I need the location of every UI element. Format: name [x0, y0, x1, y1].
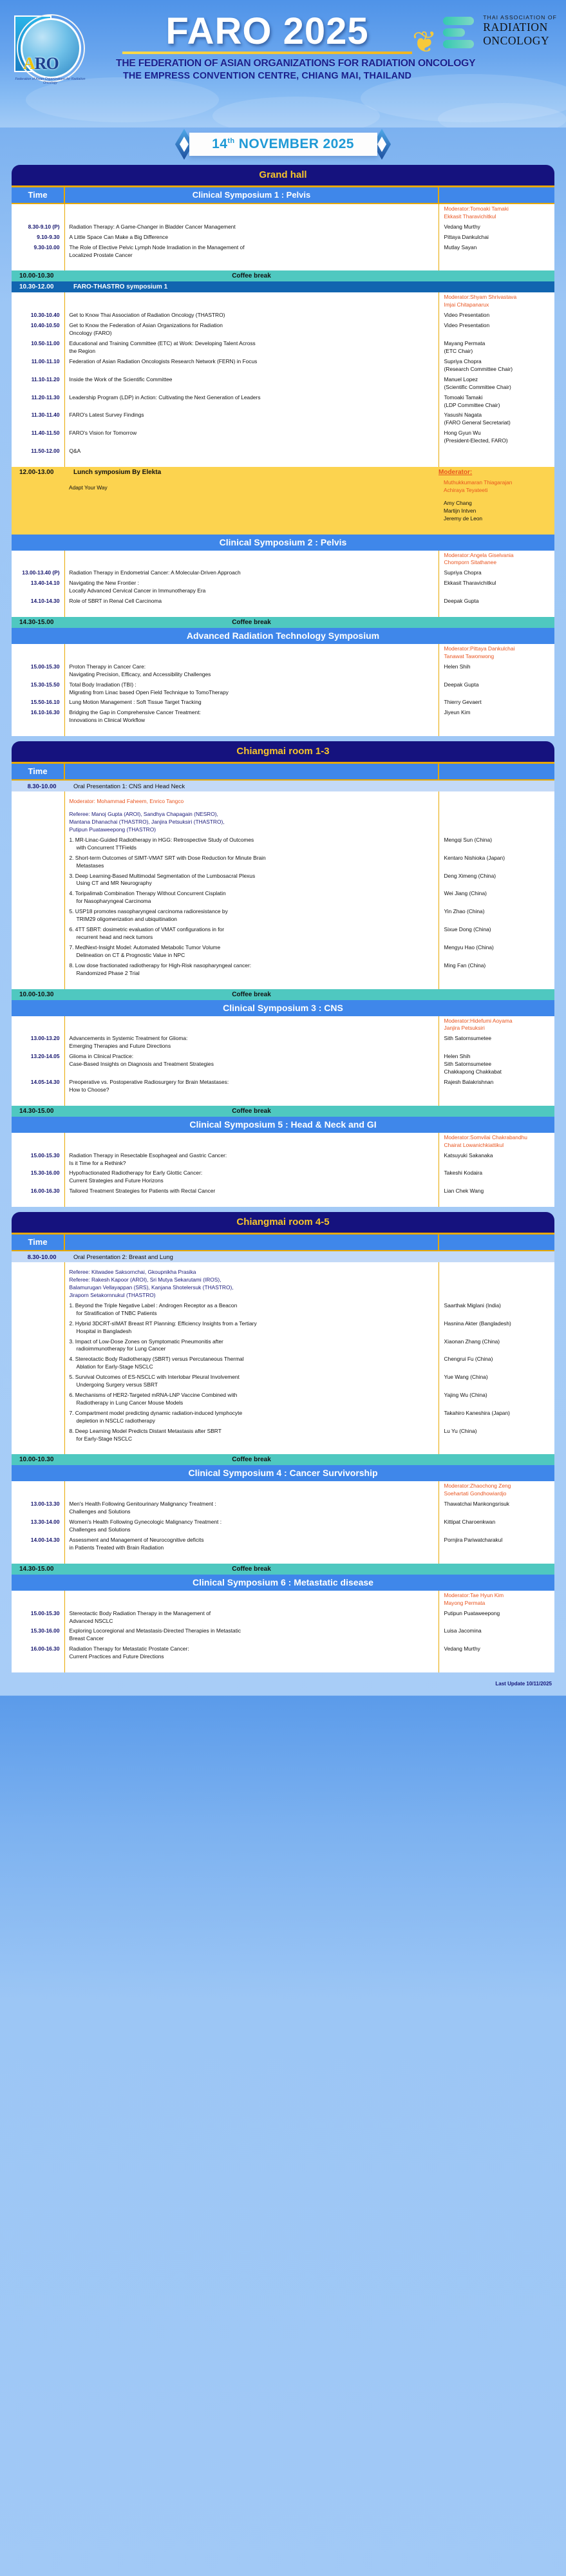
moderator-name: Zhaochong Zeng — [470, 1482, 511, 1489]
break-time: 14.30-15.00 — [12, 1106, 64, 1117]
session-topic: Bridging the Gap in Comprehensive Cancer… — [64, 708, 439, 726]
spacer-topic — [64, 1662, 439, 1672]
moderator-name: Somvilai Chakrabandhu — [470, 1134, 527, 1141]
symposium-title-header: Clinical Symposium 1 : Pelvis — [64, 187, 439, 204]
oral-item-time — [12, 1354, 64, 1372]
time-cell — [12, 204, 64, 222]
thai-flame-icon: ❦ — [412, 27, 438, 66]
session-topic: Men's Health Following Genitourinary Mal… — [64, 1499, 439, 1517]
schedule-page: ARO Federation of Asian Organizations fo… — [0, 0, 566, 1696]
oral-item-text-cont: for Early-Stage NSCLC — [70, 1435, 435, 1443]
session-time: 14.00-14.30 — [12, 1535, 64, 1553]
oral-item-speaker: Hasnina Akter (Bangladesh) — [439, 1319, 554, 1337]
spacer-time — [12, 607, 64, 617]
oral-item-row[interactable]: 8. Low dose fractionated radiotherapy fo… — [12, 961, 554, 979]
speaker-cell: Moderator:Shyam ShrivastavaImjai Chitapa… — [439, 292, 554, 310]
session-topic: Get to Know Thai Association of Radiatio… — [64, 310, 439, 321]
session-speaker: Lian Chek Wang — [439, 1186, 554, 1197]
break-label: Coffee break — [64, 617, 439, 628]
oral-item-row[interactable]: 7. Compartment model predicting dynamic … — [12, 1408, 554, 1426]
session-row[interactable]: 13.40-14.10Navigating the New Frontier :… — [12, 578, 554, 596]
row-spacer — [12, 979, 554, 989]
oral-item-text: 2. Hybrid 3DCRT-sIMAT Breast RT Planning… — [70, 1320, 435, 1328]
spacer-topic — [64, 607, 439, 617]
break-time: 10.00-10.30 — [12, 989, 64, 1000]
oral-item-row[interactable]: 5. Survival Outcomes of ES-NSCLC with In… — [12, 1372, 554, 1390]
session-row[interactable]: 13.20-14.05Glioma in Clinical Practice:C… — [12, 1052, 554, 1077]
moderator-row: Moderator:Tomoaki TamakiEkkasit Tharavic… — [12, 204, 554, 222]
oral-item-speaker: Mengqi Sun (China) — [439, 835, 554, 853]
session-row[interactable]: 15.00-15.30Stereotactic Body Radiation T… — [12, 1609, 554, 1627]
schedule-table: Time 8.30-10.00Oral Presentation 2: Brea… — [12, 1235, 554, 1672]
session-time: 13.20-14.05 — [12, 1052, 64, 1077]
session-row[interactable]: 9.30-10.00The Role of Elective Pelvic Ly… — [12, 243, 554, 261]
symposium-title: Advanced Radiation Technology Symposium — [12, 628, 554, 644]
moderator-row: Moderator:Tae Hyun KimMayong Permata — [12, 1591, 554, 1609]
session-row[interactable]: 8.30-9.10 (P)Radiation Therapy: A Game-C… — [12, 222, 554, 232]
speaker-cell: Moderator:Hidefumi AoyamaJanjira Petsuks… — [439, 1016, 554, 1034]
oral-item-speaker: Chengrui Fu (China) — [439, 1354, 554, 1372]
moderator-label: Moderator: — [444, 1134, 471, 1141]
bar-3 — [443, 40, 474, 48]
break-label: Coffee break — [64, 270, 439, 281]
oral-item-speaker: Yue Wang (China) — [439, 1372, 554, 1390]
time-column-header: Time — [12, 1235, 64, 1251]
spacer-speaker — [439, 457, 554, 467]
moderator-label: Moderator: — [444, 294, 471, 300]
session-speaker: Supriya Chopra — [439, 568, 554, 578]
session-topic: Federation of Asian Radiation Oncologist… — [64, 357, 439, 375]
logo-aro-text: ARO — [23, 54, 59, 73]
session-row[interactable]: 16.00-16.30Radiation Therapy for Metasta… — [12, 1644, 554, 1662]
session-speaker: Hong Gyun Wu(President-Elected, FARO) — [439, 428, 554, 446]
break-label: Coffee break — [64, 1564, 439, 1575]
spacer-topic — [64, 1095, 439, 1106]
spacer-time — [12, 726, 64, 736]
oral-item-speaker: Ming Fan (China) — [439, 961, 554, 979]
oral-item-text: 2. Short-term Outcomes of SIMT-VMAT SRT … — [70, 855, 435, 862]
session-speaker: Deepak Gupta — [439, 680, 554, 698]
oral-item-text: 5. USP18 promotes nasopharyngeal carcino… — [70, 908, 435, 916]
break-spacer — [439, 989, 554, 1000]
lunch-pad-b — [64, 524, 439, 535]
oral-item-text: 4. Toripalimab Combination Therapy Witho… — [70, 890, 435, 898]
oral-item-row[interactable]: 8. Deep Learning Model Predicts Distant … — [12, 1426, 554, 1444]
session-time: 14.10-14.30 — [12, 596, 64, 607]
session-speaker: Takeshi Kodaira — [439, 1168, 554, 1186]
session-speaker: Vedang Murthy — [439, 1644, 554, 1662]
oral-item-text: 7. Compartment model predicting dynamic … — [70, 1410, 435, 1417]
session-row[interactable]: 15.00-15.30Radiation Therapy in Resectab… — [12, 1151, 554, 1169]
oral-meta-row: Moderator: Mohammad Faheem, Enrico Tangc… — [12, 791, 554, 835]
time-cell — [12, 644, 64, 662]
spacer-speaker — [439, 1553, 554, 1564]
lunch-pad-row — [12, 524, 554, 535]
oral-item-topic: 2. Short-term Outcomes of SIMT-VMAT SRT … — [64, 853, 439, 871]
break-row: 10.00-10.30Coffee break — [12, 1454, 554, 1465]
session-speaker: Ekkasit Tharavichitkul — [439, 578, 554, 596]
moderator-name: Chairat Lowanichkiattikul — [444, 1142, 504, 1148]
date-month-year: NOVEMBER 2025 — [239, 137, 354, 151]
session-time: 15.50-16.10 — [12, 697, 64, 708]
break-label: Coffee break — [64, 989, 439, 1000]
break-time: 10.00-10.30 — [12, 1454, 64, 1465]
session-speaker: Luisa Jacomina — [439, 1626, 554, 1644]
session-topic: Get to Know the Federation of Asian Orga… — [64, 321, 439, 339]
symposium-bar: Clinical Symposium 3 : CNS — [12, 1000, 554, 1016]
session-speaker: Katsuyuki Sakanaka — [439, 1151, 554, 1169]
oral-item-row[interactable]: 1. MR-Linac-Guided Radiotherapy in HGG: … — [12, 835, 554, 853]
spacer-time — [12, 1095, 64, 1106]
oral-item-time — [12, 1301, 64, 1319]
moderator-row: Moderator:Shyam ShrivastavaImjai Chitapa… — [12, 292, 554, 310]
moderator-name: Achiraya Teyateeti — [444, 487, 487, 493]
oral-item-text: 6. Mechanisms of HER2-Targeted mRNA-LNP … — [70, 1392, 435, 1399]
oral-item-time — [12, 961, 64, 979]
session-speaker: Helen Shih — [439, 662, 554, 680]
session-time: 15.30-16.00 — [12, 1626, 64, 1644]
session-time: 11.40-11.50 — [12, 428, 64, 446]
spacer-topic — [64, 979, 439, 989]
session-row[interactable]: 11.40-11.50FARO's Vision for TomorrowHon… — [12, 428, 554, 446]
schedule-table: Time 8.30-10.00Oral Presentation 1: CNS … — [12, 764, 554, 1207]
session-topic: Assessment and Management of Neurocognit… — [64, 1535, 439, 1553]
time-cell — [12, 1591, 64, 1609]
moderator-name: Pittaya Dankulchai — [470, 645, 514, 652]
symposium-title-header — [64, 764, 439, 780]
session-time: 9.10-9.30 — [12, 232, 64, 243]
hall-section: Chiangmai room 4-5Time 8.30-10.00Oral Pr… — [12, 1212, 554, 1672]
symposium-title: Clinical Symposium 2 : Pelvis — [12, 535, 554, 551]
session-row[interactable]: 15.50-16.10Lung Motion Management : Soft… — [12, 697, 554, 708]
session-row[interactable]: 15.30-16.00Hypofractionated Radiotherapy… — [12, 1168, 554, 1186]
referee-line: Jiraporn Setakornnukul (THASTRO) — [70, 1292, 156, 1298]
oral-item-row[interactable]: 4. Toripalimab Combination Therapy Witho… — [12, 889, 554, 907]
lunch-label: Lunch symposium By Elekta — [64, 467, 439, 478]
moderator-label: Moderator: — [444, 1592, 471, 1598]
session-row[interactable]: 15.00-15.30Proton Therapy in Cancer Care… — [12, 662, 554, 680]
oral-item-text-cont: Using CT and MR Neurography — [70, 880, 435, 887]
time-cell — [12, 1481, 64, 1499]
oral-item-row[interactable]: 6. 4TT SBRT: dosimetric evaluation of VM… — [12, 925, 554, 943]
session-speaker: Rajesh Balakrishnan — [439, 1077, 554, 1095]
time-cell — [12, 1016, 64, 1034]
event-banner: ARO Federation of Asian Organizations fo… — [0, 0, 566, 128]
spacer-speaker — [439, 726, 554, 736]
topic-cell — [64, 644, 439, 662]
oral-item-time — [12, 907, 64, 925]
symposium-bar: Advanced Radiation Technology Symposium — [12, 628, 554, 644]
row-spacer — [12, 1553, 554, 1564]
speaker-column-header — [439, 187, 554, 204]
session-row[interactable]: 13.30-14.00Women's Health Following Gyne… — [12, 1517, 554, 1535]
moderator-name: Muthukkumaran Thiagarajan — [444, 479, 512, 486]
spacer-speaker — [439, 1095, 554, 1106]
oral-item-topic: 6. Mechanisms of HER2-Targeted mRNA-LNP … — [64, 1390, 439, 1408]
hall-section: Chiangmai room 1-3Time 8.30-10.00Oral Pr… — [12, 741, 554, 1207]
speaker-column-header — [439, 764, 554, 780]
session-time: 10.40-10.50 — [12, 321, 64, 339]
session-row[interactable]: 14.00-14.30Assessment and Management of … — [12, 1535, 554, 1553]
session-row[interactable]: 15.30-15.50Total Body Irradiation (TBI) … — [12, 680, 554, 698]
session-time: 13.40-14.10 — [12, 578, 64, 596]
session-topic: Hypofractionated Radiotherapy for Early … — [64, 1168, 439, 1186]
moderator-name: Janjira Petsuksiri — [444, 1025, 485, 1031]
oral-meta-time — [12, 1262, 64, 1301]
speaker-cell: Moderator:Somvilai ChakrabandhuChairat L… — [439, 1133, 554, 1151]
oral-item-row[interactable]: 5. USP18 promotes nasopharyngeal carcino… — [12, 907, 554, 925]
oral-item-speaker: Yajing Wu (China) — [439, 1390, 554, 1408]
break-row: 14.30-15.00Coffee break — [12, 617, 554, 628]
speaker-cell: Moderator:Angela GiselvaniaChomporn Sita… — [439, 551, 554, 569]
row-spacer — [12, 1095, 554, 1106]
oral-item-topic: 7. MedNext-Insight Model: Automated Meta… — [64, 943, 439, 961]
session-time: 15.00-15.30 — [12, 662, 64, 680]
session-row[interactable]: 10.40-10.50Get to Know the Federation of… — [12, 321, 554, 339]
session-row[interactable]: 14.10-14.30Role of SBRT in Renal Cell Ca… — [12, 596, 554, 607]
oral-item-topic: 6. 4TT SBRT: dosimetric evaluation of VM… — [64, 925, 439, 943]
session-topic: Preoperative vs. Postoperative Radiosurg… — [64, 1077, 439, 1095]
session-row[interactable]: 13.00-13.20Advancements in Systemic Trea… — [12, 1034, 554, 1052]
organization-line: THE FEDERATION OF ASIAN ORGANIZATIONS FO… — [116, 58, 419, 70]
session-speaker: Jiyeun Kim — [439, 708, 554, 726]
row-spacer — [12, 1444, 554, 1455]
time-column-header: Time — [12, 187, 64, 204]
symposium-title: Clinical Symposium 3 : CNS — [12, 1000, 554, 1016]
event-date-ribbon: 14th NOVEMBER 2025 — [189, 133, 377, 156]
oral-item-text: 3. Impact of Low-Dose Zones on Symptomat… — [70, 1338, 435, 1346]
event-title: FARO 2025 — [116, 13, 419, 50]
session-speaker: Sith Satornsumetee — [439, 1034, 554, 1052]
speaker-column-header — [439, 1235, 554, 1251]
break-time: 14.30-15.00 — [12, 1564, 64, 1575]
session-row[interactable]: 16.10-16.30Bridging the Gap in Comprehen… — [12, 708, 554, 726]
oral-item-row[interactable]: 7. MedNext-Insight Model: Automated Meta… — [12, 943, 554, 961]
break-time: 10.00-10.30 — [12, 270, 64, 281]
row-spacer — [12, 1197, 554, 1207]
oral-item-time — [12, 925, 64, 943]
bar-1 — [443, 17, 474, 25]
oral-item-time — [12, 1372, 64, 1390]
spacer-topic — [64, 726, 439, 736]
session-time: 9.30-10.00 — [12, 243, 64, 261]
oral-item-text-cont: Delineation on CT & Prognostic Value in … — [70, 952, 435, 960]
oral-item-row[interactable]: 2. Hybrid 3DCRT-sIMAT Breast RT Planning… — [12, 1319, 554, 1337]
topic-cell — [64, 1481, 439, 1499]
oral-item-text: 8. Low dose fractionated radiotherapy fo… — [70, 962, 435, 970]
session-topic: Total Body Irradiation (TBI) :Migrating … — [64, 680, 439, 698]
lunch-pad-c — [439, 524, 554, 535]
oral-item-topic: 5. USP18 promotes nasopharyngeal carcino… — [64, 907, 439, 925]
logo-caption: Federation of Asian Organizations for Ra… — [13, 77, 88, 85]
oral-item-text-cont: with Concurrent TTFields — [70, 844, 435, 852]
moderator-row: Moderator:Zhaochong ZengSoehartati Gondh… — [12, 1481, 554, 1499]
oral-item-topic: 4. Toripalimab Combination Therapy Witho… — [64, 889, 439, 907]
oral-item-text-cont: Undergoing Surgery versus SBRT — [70, 1381, 435, 1389]
oral-item-row[interactable]: 1. Beyond the Triple Negative Label : An… — [12, 1301, 554, 1319]
speaker-cell: Moderator:Zhaochong ZengSoehartati Gondh… — [439, 1481, 554, 1499]
symposium-title: Clinical Symposium 6 : Metastatic diseas… — [12, 1575, 554, 1591]
speaker-cell: Moderator:Pittaya DankulchaiTanawat Tawo… — [439, 644, 554, 662]
session-bar-spacer — [439, 281, 554, 292]
lunch-pad-a — [12, 524, 64, 535]
session-speaker: Video Presentation — [439, 310, 554, 321]
thai-assoc-line3: ONCOLOGY — [483, 34, 557, 48]
oral-item-text: 7. MedNext-Insight Model: Automated Meta… — [70, 944, 435, 952]
thai-association-logo: THAI ASSOCIATION OF RADIATION ONCOLOGY — [483, 14, 557, 48]
hall-title: Grand hall — [12, 165, 554, 187]
date-day: 14 — [212, 137, 227, 151]
oral-item-topic: 1. Beyond the Triple Negative Label : An… — [64, 1301, 439, 1319]
oral-item-text-cont: Ablation for Early-Stage NSCLC — [70, 1363, 435, 1371]
session-topic: Radiation Therapy: A Game-Changer in Bla… — [64, 222, 439, 232]
break-spacer — [439, 1106, 554, 1117]
moderator-label: Moderator: — [444, 205, 471, 212]
moderator-name: Hidefumi Aoyama — [470, 1018, 513, 1024]
session-time: 11.00-11.10 — [12, 357, 64, 375]
symposium-title: Clinical Symposium 5 : Head & Neck and G… — [12, 1117, 554, 1133]
session-time: 10.50-11.00 — [12, 339, 64, 357]
session-speaker: Thawatchai Mankongsrisuk — [439, 1499, 554, 1517]
session-topic: Radiation Therapy in Resectable Esophage… — [64, 1151, 439, 1169]
session-row[interactable]: 10.50-11.00Educational and Training Comm… — [12, 339, 554, 357]
session-time: 13.30-14.00 — [12, 1517, 64, 1535]
session-topic: FARO's Vision for Tomorrow — [64, 428, 439, 446]
spacer-time — [12, 1197, 64, 1207]
oral-item-row[interactable]: 2. Short-term Outcomes of SIMT-VMAT SRT … — [12, 853, 554, 871]
session-row[interactable]: 14.05-14.30Preoperative vs. Postoperativ… — [12, 1077, 554, 1095]
moderator-name: Shyam Shrivastava — [470, 294, 516, 300]
session-row[interactable]: 11.00-11.10Federation of Asian Radiation… — [12, 357, 554, 375]
session-speaker: Deepak Gupta — [439, 596, 554, 607]
break-row: 10.00-10.30Coffee break — [12, 270, 554, 281]
session-row[interactable]: 13.00-13.30Men's Health Following Genito… — [12, 1499, 554, 1517]
row-spacer — [12, 457, 554, 467]
hall-title: Chiangmai room 1-3 — [12, 741, 554, 764]
break-spacer — [439, 617, 554, 628]
moderator-label: Moderator: — [444, 645, 471, 652]
spacer-topic — [64, 1197, 439, 1207]
spacer-topic — [64, 261, 439, 271]
moderator-name: Soehartati Gondhowiardjo — [444, 1490, 507, 1497]
oral-item-text-cont: radioimmunotherapy for Lung Cancer — [70, 1345, 435, 1353]
session-time: 11.50-12.00 — [12, 446, 64, 457]
lunch-symposium-row: 12.00-13.00Lunch symposium By ElektaMode… — [12, 467, 554, 478]
oral-time: 8.30-10.00 — [12, 1251, 64, 1262]
thai-assoc-line1: THAI ASSOCIATION OF — [483, 14, 557, 21]
session-row[interactable]: 11.20-11.30Leadership Program (LDP) in A… — [12, 393, 554, 411]
session-row[interactable]: 9.10-9.30A Little Space Can Make a Big D… — [12, 232, 554, 243]
oral-item-time — [12, 835, 64, 853]
session-row[interactable]: 10.30-10.40Get to Know Thai Association … — [12, 310, 554, 321]
lunch-moderator-label: Moderator: — [439, 467, 554, 478]
row-spacer — [12, 607, 554, 617]
session-time: 14.05-14.30 — [12, 1077, 64, 1095]
session-row[interactable]: 11.50-12.00Q&A — [12, 446, 554, 457]
spacer-topic — [64, 1553, 439, 1564]
session-topic: Women's Health Following Gynecologic Mal… — [64, 1517, 439, 1535]
moderator-row: Moderator:Pittaya DankulchaiTanawat Tawo… — [12, 644, 554, 662]
session-topic: Navigating the New Frontier :Locally Adv… — [64, 578, 439, 596]
session-time: 11.20-11.30 — [12, 393, 64, 411]
session-row[interactable]: 11.10-11.20Inside the Work of the Scient… — [12, 375, 554, 393]
session-topic: Stereotactic Body Radiation Therapy in t… — [64, 1609, 439, 1627]
break-spacer — [439, 1454, 554, 1465]
oral-item-row[interactable]: 3. Deep Learning-Based Multimodal Segmen… — [12, 871, 554, 889]
symposium-title-header — [64, 1235, 439, 1251]
break-spacer — [439, 1564, 554, 1575]
schedule-table: TimeClinical Symposium 1 : Pelvis Modera… — [12, 187, 554, 736]
oral-item-text: 1. Beyond the Triple Negative Label : An… — [70, 1302, 435, 1310]
session-bar-row: 10.30-12.00FARO-THASTRO symposium 1 — [12, 281, 554, 292]
oral-item-speaker: Sixue Dong (China) — [439, 925, 554, 943]
session-row[interactable]: 11.30-11.40FARO's Latest Survey Findings… — [12, 410, 554, 428]
oral-item-row[interactable]: 6. Mechanisms of HER2-Targeted mRNA-LNP … — [12, 1390, 554, 1408]
oral-presentation-row: 8.30-10.00Oral Presentation 2: Breast an… — [12, 1251, 554, 1262]
spacer-speaker — [439, 1662, 554, 1672]
spacer-time — [12, 261, 64, 271]
oral-meta-row: Referee: Kitwadee Saksornchai, Gkoupnikh… — [12, 1262, 554, 1301]
oral-item-text-cont: depletion in NSCLC radiotherapy — [70, 1417, 435, 1425]
oral-presentation-row: 8.30-10.00Oral Presentation 1: CNS and H… — [12, 780, 554, 791]
topic-cell — [64, 1591, 439, 1609]
session-row[interactable]: 13.00-13.40 (P)Radiation Therapy in Endo… — [12, 568, 554, 578]
session-time: 11.10-11.20 — [12, 375, 64, 393]
faro-logo-icon: ARO Federation of Asian Organizations fo… — [9, 14, 84, 91]
row-spacer — [12, 1662, 554, 1672]
oral-item-time — [12, 1408, 64, 1426]
oral-item-row[interactable]: 4. Stereotactic Body Radiotherapy (SBRT)… — [12, 1354, 554, 1372]
moderator-name: Imjai Chitapanarux — [444, 301, 489, 308]
oral-item-speaker: Deng Ximeng (China) — [439, 871, 554, 889]
session-topic: Glioma in Clinical Practice:Case-Based I… — [64, 1052, 439, 1077]
moderator-name: Ekkasit Tharavichitkul — [444, 213, 496, 220]
referee-line: Referee: Manoj Gupta (AROI), Sandhya Cha… — [70, 811, 218, 817]
session-row[interactable]: 16.00-16.30Tailored Treatment Strategies… — [12, 1186, 554, 1197]
session-row[interactable]: 15.30-16.00Exploring Locoregional and Me… — [12, 1626, 554, 1644]
oral-item-speaker: Yin Zhao (China) — [439, 907, 554, 925]
spacer-speaker — [439, 1444, 554, 1455]
oral-item-time — [12, 943, 64, 961]
oral-item-time — [12, 1390, 64, 1408]
oral-item-speaker: Xiaonan Zhang (China) — [439, 1337, 554, 1355]
oral-item-text: 6. 4TT SBRT: dosimetric evaluation of VM… — [70, 926, 435, 934]
row-spacer — [12, 726, 554, 736]
oral-item-row[interactable]: 3. Impact of Low-Dose Zones on Symptomat… — [12, 1337, 554, 1355]
session-speaker: Yasushi Nagata(FARO General Secretariat) — [439, 410, 554, 428]
session-topic: Lung Motion Management : Soft Tissue Tar… — [64, 697, 439, 708]
oral-item-time — [12, 889, 64, 907]
session-time: 16.00-16.30 — [12, 1644, 64, 1662]
referee-line: Referee: Rakesh Kapoor (AROI), Sri Mutya… — [70, 1276, 222, 1283]
session-time: 13.00-13.30 — [12, 1499, 64, 1517]
date-ordinal: th — [227, 137, 234, 145]
moderator-label: Moderator: — [444, 1482, 471, 1489]
table-header-row: Time — [12, 764, 554, 780]
oral-item-topic: 1. MR-Linac-Guided Radiotherapy in HGG: … — [64, 835, 439, 853]
referee-line: Balamurugan Vellayappan (SRS), Kanjana S… — [70, 1284, 234, 1291]
oral-item-speaker: Wei Jiang (China) — [439, 889, 554, 907]
oral-item-speaker: Saarthak Miglani (India) — [439, 1301, 554, 1319]
spacer-speaker — [439, 261, 554, 271]
moderator-name: Tanawat Tawonwong — [444, 653, 495, 659]
oral-item-topic: 8. Deep Learning Model Predicts Distant … — [64, 1426, 439, 1444]
halls-container: Grand hallTimeClinical Symposium 1 : Pel… — [0, 165, 566, 1672]
break-spacer — [439, 270, 554, 281]
session-topic: Q&A — [64, 446, 439, 457]
topic-cell — [64, 1016, 439, 1034]
moderator-row: Moderator:Hidefumi AoyamaJanjira Petsuks… — [12, 1016, 554, 1034]
